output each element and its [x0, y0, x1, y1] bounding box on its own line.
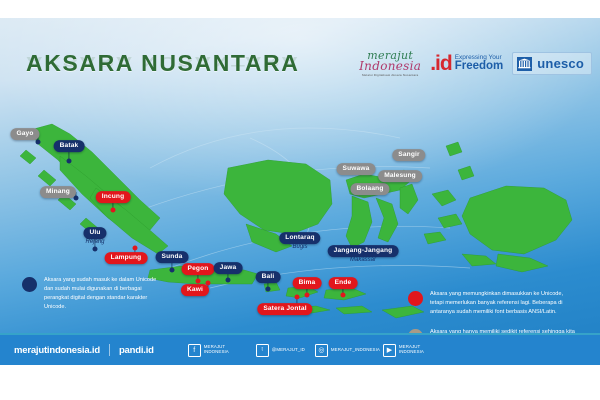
social-instagram[interactable]: ◎MERAJUT_INDONESIA — [315, 344, 373, 357]
map-label-sangir[interactable]: Sangir — [392, 149, 425, 161]
map-marker-dot[interactable] — [93, 247, 98, 252]
poster-canvas: AKSARA NUSANTARA AKSARA NUSANTARA meraju… — [0, 18, 600, 365]
legend-navy: Aksara yang sudah masuk ke dalam Unicode… — [22, 276, 162, 312]
map-label-satera-jontal[interactable]: Satera Jontal — [257, 303, 312, 315]
map-label-ende[interactable]: Ende — [329, 277, 358, 289]
map-marker-dot[interactable] — [341, 293, 346, 298]
map-marker-dot[interactable] — [111, 208, 116, 213]
map-marker-dot[interactable] — [170, 268, 175, 273]
pandi-id-logo: .id Expressing Your Freedom — [430, 53, 503, 74]
facebook-icon[interactable]: f — [188, 344, 201, 357]
social-twitter[interactable]: ᵗ@MERAJUT_ID — [256, 344, 305, 357]
legend-red-swatch — [408, 291, 423, 306]
map-label-ulu[interactable]: Ulu — [83, 227, 106, 239]
pandi-id-line2: Freedom — [455, 61, 504, 73]
map-label-jangang-jangang[interactable]: Jangang-Jangang — [328, 245, 399, 257]
map-label-pegon[interactable]: Pegon — [182, 263, 215, 275]
map-marker-dot[interactable] — [133, 246, 138, 251]
legend-navy-swatch — [22, 277, 37, 292]
footer-brand-merajutindonesia[interactable]: merajutindonesia.id — [14, 345, 100, 356]
social-facebook[interactable]: fMERAJUT INDONESIA — [188, 344, 246, 357]
map-label-bolaang[interactable]: Bolaang — [350, 183, 389, 195]
map-label-bali[interactable]: Bali — [256, 271, 281, 283]
map-sublabel-makassar: Makassar — [350, 257, 376, 263]
instagram-icon[interactable]: ◎ — [315, 344, 328, 357]
merajut-logo-line2: Indonesia — [359, 60, 421, 72]
map-marker-dot[interactable] — [295, 295, 300, 300]
legend-navy-text: Aksara yang sudah masuk ke dalam Unicode… — [44, 276, 162, 312]
social-handle: MERAJUT INDONESIA — [204, 345, 246, 355]
footer-brands: merajutindonesia.id pandi.id — [14, 344, 154, 356]
unesco-logo-text: unesco — [537, 56, 584, 71]
unesco-temple-icon — [517, 57, 532, 71]
map-marker-dot[interactable] — [226, 278, 231, 283]
map-label-lontaraq[interactable]: Lontaraq — [279, 232, 320, 244]
map-sublabel-bugis: Bugis — [292, 244, 307, 250]
social-youtube[interactable]: ▶MERAJUT INDONESIA — [383, 344, 441, 357]
map-label-lampung[interactable]: Lampung — [105, 252, 148, 264]
map-marker-dot[interactable] — [305, 293, 310, 298]
unesco-logo: unesco — [512, 52, 592, 75]
social-handle: MERAJUT_INDONESIA — [331, 348, 373, 353]
page-title: AKSARA NUSANTARA — [26, 50, 299, 77]
twitter-icon[interactable]: ᵗ — [256, 344, 269, 357]
map-label-gayo[interactable]: Gayo — [10, 128, 39, 140]
map-marker-dot[interactable] — [266, 287, 271, 292]
map-marker-dot[interactable] — [36, 140, 41, 145]
youtube-icon[interactable]: ▶ — [383, 344, 396, 357]
map-label-bima[interactable]: Bima — [293, 277, 322, 289]
legend-red: Aksara yang memungkinkan dimasukkan ke U… — [408, 290, 576, 317]
map-label-kawi[interactable]: Kawi — [181, 284, 209, 296]
social-links: fMERAJUT INDONESIAᵗ@MERAJUT_ID◎MERAJUT_I… — [188, 344, 441, 357]
map-label-batak[interactable]: Batak — [54, 140, 85, 152]
merajut-logo-tagline: Melalui Digitalisasi Aksara Nusantara — [362, 74, 418, 77]
social-handle: MERAJUT INDONESIA — [399, 345, 441, 355]
map-label-sunda[interactable]: Sunda — [156, 251, 189, 263]
social-handle: @MERAJUT_ID — [272, 348, 305, 353]
map-label-minang[interactable]: Minang — [40, 186, 76, 198]
map-label-malesung[interactable]: Malesung — [378, 170, 422, 182]
map-sublabel-rejang: Rejang — [85, 239, 104, 245]
map-marker-dot[interactable] — [67, 159, 72, 164]
map-label-incung[interactable]: Incung — [96, 191, 131, 203]
pandi-id-mark: .id — [430, 53, 452, 74]
merajut-indonesia-logo: merajut Indonesia Melalui Digitalisasi A… — [359, 50, 421, 77]
legend-red-text: Aksara yang memungkinkan dimasukkan ke U… — [430, 290, 576, 317]
map-label-suwawa[interactable]: Suwawa — [337, 163, 376, 175]
map-marker-dot[interactable] — [196, 279, 201, 284]
footer-brand-pandi[interactable]: pandi.id — [119, 345, 154, 356]
map-label-jawa[interactable]: Jawa — [214, 262, 243, 274]
footer-bar: merajutindonesia.id pandi.id fMERAJUT IN… — [0, 333, 600, 365]
footer-divider — [109, 344, 110, 356]
logo-bar: merajut Indonesia Melalui Digitalisasi A… — [359, 50, 592, 77]
